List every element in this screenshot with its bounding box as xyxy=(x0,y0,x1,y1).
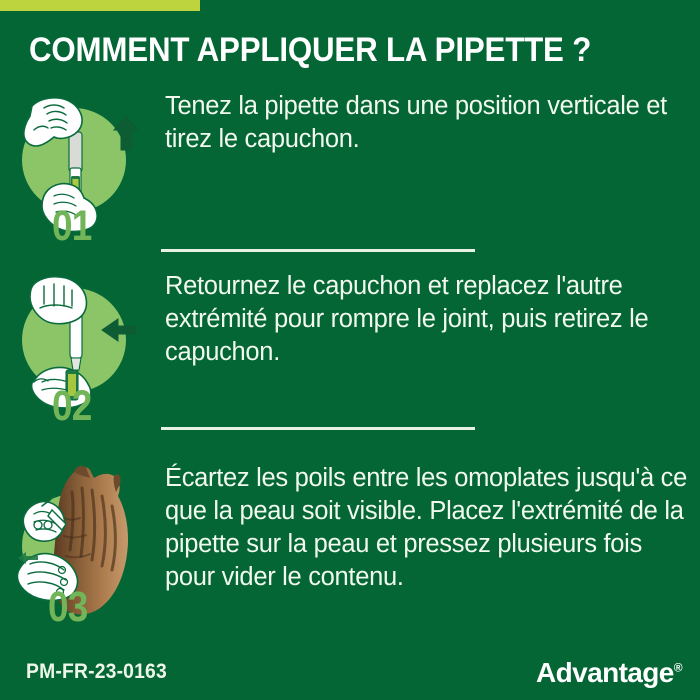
step-divider-1 xyxy=(161,249,475,252)
instruction-card: COMMENT APPLIQUER LA PIPETTE ? xyxy=(0,0,700,700)
top-accent-bar xyxy=(0,0,200,11)
step-icon-02: 02 xyxy=(14,270,144,420)
step-number-label: 01 xyxy=(52,205,91,248)
step-icon-01: 01 xyxy=(14,90,144,240)
step-icon-03: 03 xyxy=(14,458,144,623)
step-number-label: 02 xyxy=(52,385,91,428)
step-divider-2 xyxy=(161,427,475,430)
page-title: COMMENT APPLIQUER LA PIPETTE ? xyxy=(29,30,627,70)
material-code: PM-FR-23-0163 xyxy=(26,660,167,684)
step-description: Retournez le capuchon et replacez l'autr… xyxy=(165,270,693,369)
step-description: Écartez les poils entre les omoplates ju… xyxy=(165,462,693,594)
registered-trademark-symbol: ® xyxy=(674,661,682,675)
brand-logo: Advantage® xyxy=(536,657,682,689)
step-number-label: 03 xyxy=(48,586,87,629)
brand-name: Advantage xyxy=(536,657,674,688)
step-description: Tenez la pipette dans une position verti… xyxy=(165,90,693,156)
